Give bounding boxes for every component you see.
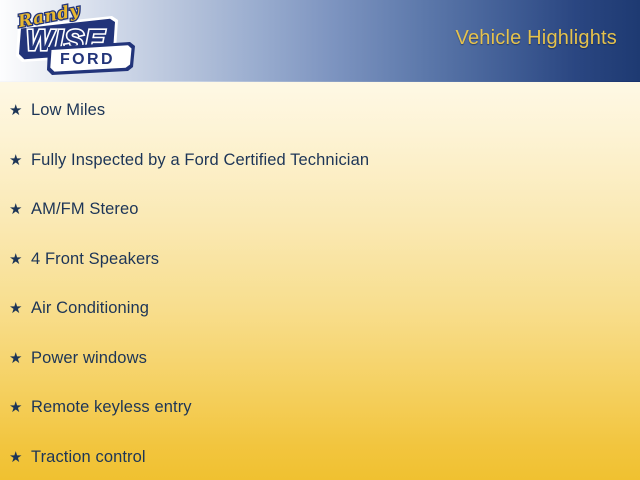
star-icon: ★ — [9, 252, 31, 267]
header-banner: WISE WISE FORD Randy Randy Vehicle Highl… — [0, 0, 640, 82]
page-title: Vehicle Highlights — [456, 27, 617, 50]
list-item: ★ Air Conditioning — [0, 280, 640, 330]
highlight-label: Remote keyless entry — [31, 399, 192, 416]
star-icon: ★ — [9, 301, 31, 316]
star-icon: ★ — [9, 153, 31, 168]
list-item: ★ 4 Front Speakers — [0, 231, 640, 281]
star-icon: ★ — [9, 202, 31, 217]
highlight-label: Fully Inspected by a Ford Certified Tech… — [31, 152, 369, 169]
randy-wise-ford-logo: WISE WISE FORD Randy Randy — [4, 0, 144, 82]
list-item: ★ Remote keyless entry — [0, 379, 640, 429]
highlight-label: AM/FM Stereo — [31, 201, 139, 218]
highlight-label: Power windows — [31, 350, 147, 367]
star-icon: ★ — [9, 103, 31, 118]
star-icon: ★ — [9, 351, 31, 366]
vehicle-highlights-list: ★ Low Miles ★ Fully Inspected by a Ford … — [0, 82, 640, 478]
star-icon: ★ — [9, 400, 31, 415]
vehicle-highlights-slide: WISE WISE FORD Randy Randy Vehicle Highl… — [0, 0, 640, 480]
highlight-label: Traction control — [31, 449, 146, 466]
highlight-label: 4 Front Speakers — [31, 251, 159, 268]
list-item: ★ AM/FM Stereo — [0, 181, 640, 231]
highlight-label: Air Conditioning — [31, 300, 149, 317]
star-icon: ★ — [9, 450, 31, 465]
list-item: ★ Power windows — [0, 330, 640, 380]
list-item: ★ Fully Inspected by a Ford Certified Te… — [0, 132, 640, 182]
list-item: ★ Traction control — [0, 429, 640, 479]
highlight-label: Low Miles — [31, 102, 105, 119]
ford-text: FORD — [60, 51, 115, 68]
list-item: ★ Low Miles — [0, 82, 640, 132]
